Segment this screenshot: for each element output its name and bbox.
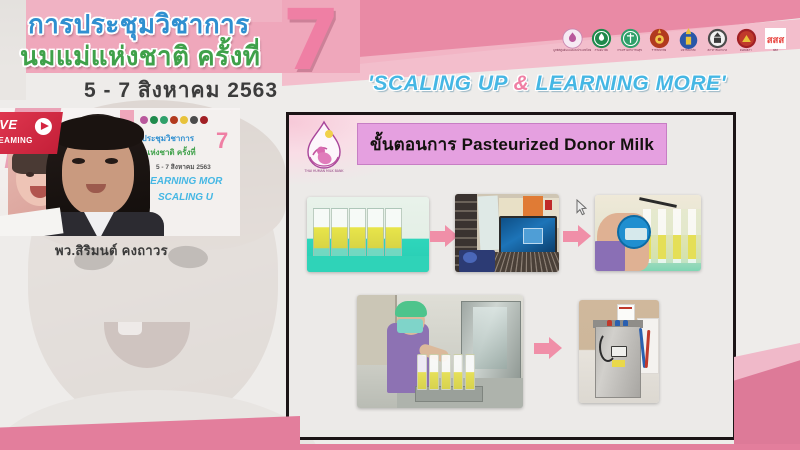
logo-nursing-council: สภาการพยาบาล (705, 28, 729, 58)
conference-slogan: 'SCALING UP & LEARNING MORE' (368, 72, 726, 96)
poster-slogan-a: LEARNING MOR (144, 176, 222, 187)
logo-royal-college: ราชวิทยาลัย (647, 28, 671, 58)
organisation-logo-row: มูลนิธิศูนย์นมแม่แห่งประเทศไทย กรมอนามัย… (560, 28, 787, 58)
bottom-edge-strip (0, 444, 800, 450)
live-streaming-badge: VE TREAMING (0, 112, 63, 154)
step-arrow-2-to-3 (563, 225, 591, 247)
logo-caption: กระทรวงสาธารณสุข (618, 50, 643, 53)
logo-caption: ราชวิทยาลัย (652, 50, 667, 53)
slide-title-box: ขั้นตอนการ Pasteurized Donor Milk (357, 123, 667, 165)
streaming-badge-label: TREAMING (0, 136, 33, 145)
nurse-loading-bottles-photo (357, 295, 523, 408)
laptop-logging-photo (455, 194, 559, 272)
logo-caption: กรมอนามัย (594, 50, 607, 53)
presentation-screen: การประชุมวิชาการ นมแม่แห่งชาติ ครั้งที่ … (0, 0, 800, 450)
play-icon (35, 118, 52, 135)
logo-university-emblem: มหาวิทยาลัย (676, 28, 700, 58)
logo-department-health: กระทรวงสาธารณสุข (618, 28, 642, 58)
logo-caption: สภาการพยาบาล (707, 50, 726, 53)
conference-title-line2: นมแม่แห่งชาติ ครั้งที่ (20, 36, 260, 77)
poster-edition: 7 (216, 128, 228, 154)
logo-caption: แพทยสภา (740, 50, 752, 53)
logo-thai-breastfeeding-foundation: มูลนิธิศูนย์นมแม่แห่งประเทศไทย (560, 28, 584, 58)
logo-caption: สสส (773, 50, 778, 53)
digital-timer-hand-photo (595, 195, 701, 271)
slide-content-panel: THAI HUMAN MILK BANK ขั้นตอนการ Pasteuri… (286, 112, 736, 440)
speaker-name: พว.สิริมนต์ คงถาวร (55, 240, 168, 261)
slide-title: ขั้นตอนการ Pasteurized Donor Milk (370, 131, 654, 158)
logo-ministry-public-health: กรมอนามัย (589, 28, 613, 58)
conference-date: 5 - 7 สิงหาคม 2563 (84, 74, 278, 107)
slogan-ampersand: & (514, 72, 530, 95)
speaker-video-inset[interactable]: การประชุมวิชาการ นมแม่แห่งชาติ ครั้งที่ … (0, 108, 240, 236)
step-arrow-1-to-2 (430, 225, 458, 247)
pasteurizer-machine-photo (579, 300, 659, 403)
logo-medical-council: แพทยสภา (734, 28, 758, 58)
human-milk-bank-drop-logo: THAI HUMAN MILK BANK (299, 119, 349, 177)
poster-date: 5 - 7 สิงหาคม 2563 (156, 162, 211, 172)
slogan-prefix: 'SCALING UP (368, 72, 514, 95)
logo-caption: มูลนิธิศูนย์นมแม่แห่งประเทศไทย (553, 50, 591, 53)
svg-text:THAI HUMAN MILK BANK: THAI HUMAN MILK BANK (304, 169, 345, 173)
slogan-suffix: LEARNING MORE' (529, 72, 726, 95)
svg-text:สสส: สสส (766, 35, 784, 46)
poster-slogan-b: SCALING U (158, 192, 213, 203)
milk-bottle-racks-photo (307, 197, 429, 272)
step-arrow-4-to-5 (534, 337, 562, 359)
logo-caption: มหาวิทยาลัย (681, 50, 696, 53)
logo-thaihealth-sss: สสส สสส (763, 28, 787, 58)
live-badge-label: VE (0, 117, 18, 132)
conference-edition-number: 7 (282, 2, 340, 79)
